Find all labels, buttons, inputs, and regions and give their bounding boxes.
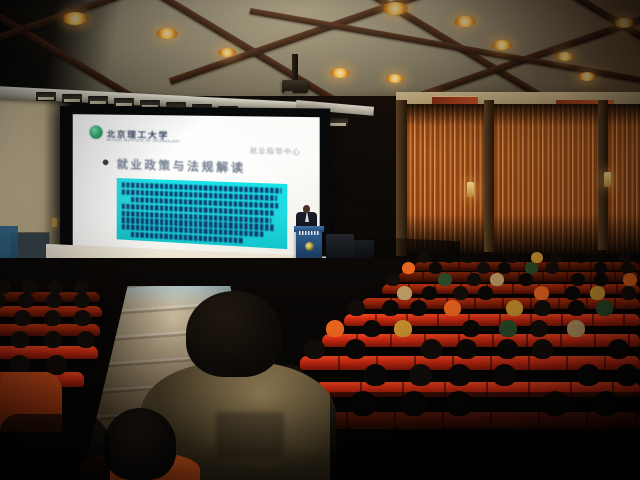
audience-member: [44, 310, 61, 326]
audience-member: [394, 320, 412, 337]
audience-member: [596, 300, 613, 316]
stage-light-fixture: [328, 118, 348, 127]
audience-member: [326, 320, 344, 337]
podium-nameplate: [299, 231, 319, 235]
audience-member: [608, 339, 629, 359]
audience-member: [348, 300, 365, 316]
audience-member: [44, 331, 62, 348]
audience-member: [525, 262, 538, 274]
audience-member: [621, 262, 634, 274]
ceiling-downlight: [578, 72, 596, 81]
seat-divider: [542, 272, 544, 282]
audience-member: [467, 273, 481, 286]
audience-member: [567, 320, 585, 337]
seat-divider: [612, 262, 614, 271]
audience-member: [478, 286, 493, 300]
wall-sconce-icon: [52, 218, 57, 227]
seat-divider: [458, 262, 460, 271]
auditorium-photo: 北京理工大学 BEIJING INSTITUTE OF TECHNOLOGY 就…: [0, 0, 640, 480]
ceiling-downlight: [382, 2, 408, 15]
ceiling-downlight: [386, 74, 404, 83]
audience-member: [616, 364, 639, 386]
seat-divider: [616, 284, 618, 294]
audience-member: [571, 273, 585, 286]
audience-member: [421, 339, 442, 359]
seat-divider: [586, 298, 588, 309]
audience-member: [429, 262, 442, 274]
seat-divider: [526, 334, 528, 347]
wall-sconce-icon: [604, 172, 611, 187]
audience-member: [74, 293, 90, 308]
audience-member: [48, 280, 63, 294]
university-seal-icon: [90, 125, 103, 138]
audience-member: [444, 300, 461, 316]
av-equipment: [354, 240, 374, 260]
audience-member: [418, 252, 430, 263]
audience-member: [499, 320, 517, 337]
wall-pillar: [484, 100, 494, 252]
stage-light-fixture: [36, 92, 56, 101]
audience-member: [594, 262, 607, 274]
audience-member: [590, 286, 605, 300]
audience-member: [621, 286, 636, 300]
audience-member: [397, 286, 412, 300]
ceiling-downlight: [614, 18, 634, 28]
audience-member: [410, 300, 427, 316]
ceiling-downlight: [62, 12, 88, 25]
seat-divider: [568, 262, 570, 271]
seat-divider: [561, 314, 563, 326]
stage-light-fixture: [62, 94, 82, 103]
audience-member: [568, 300, 585, 316]
slide-university-name-en: BEIJING INSTITUTE OF TECHNOLOGY: [107, 138, 181, 144]
diamond-bullet-icon: [103, 159, 109, 165]
audience-member: [386, 273, 400, 286]
ceiling-downlight: [330, 68, 350, 78]
seat-divider: [490, 356, 492, 370]
seat-divider: [422, 272, 424, 282]
audience-member: [11, 331, 29, 348]
wall-pillar: [396, 100, 407, 256]
seat-divider: [566, 272, 568, 282]
audience-member: [364, 364, 387, 386]
audience-member: [575, 252, 587, 263]
ceiling-downlight: [156, 28, 178, 39]
audience-member: [534, 300, 551, 316]
seat-divider: [528, 356, 530, 370]
ceiling-downlight: [454, 16, 476, 27]
seat-divider: [590, 262, 592, 271]
seat-divider: [623, 314, 625, 326]
audience-member: [402, 262, 415, 274]
seat-divider: [437, 314, 439, 326]
seat-divider: [614, 272, 616, 282]
audience-member: [14, 310, 31, 326]
audience-member: [46, 293, 62, 308]
audience-member: [497, 339, 518, 359]
seat-divider: [558, 298, 560, 309]
wall-sconce-icon: [467, 182, 474, 197]
seat-divider: [474, 298, 476, 309]
wall-curtain: [492, 104, 602, 254]
seat-divider: [502, 298, 504, 309]
audience-member: [462, 252, 474, 263]
ceiling-downlight: [218, 48, 236, 57]
ceiling-downlight: [492, 40, 512, 50]
foreground-shadow-left: [0, 414, 110, 480]
projector-lens: [284, 91, 293, 95]
audience-member: [453, 286, 468, 300]
audience-member: [534, 286, 549, 300]
audience-member: [304, 339, 325, 359]
audience-member: [448, 364, 471, 386]
slide-heading: 就业政策与法规解读: [117, 156, 246, 177]
slide-text-box: [117, 178, 288, 249]
audience-member: [594, 273, 608, 286]
audience-member: [74, 310, 91, 326]
audience-member: [77, 331, 95, 348]
seat-divider: [492, 334, 494, 347]
seat-divider: [338, 356, 340, 370]
seat-divider: [592, 314, 594, 326]
audience-member: [498, 262, 511, 274]
seat-divider: [512, 284, 514, 294]
audience-member: [345, 339, 366, 359]
ceiling-downlight: [556, 52, 574, 61]
foreground-figure2-head: [104, 408, 176, 480]
audience-member: [382, 300, 399, 316]
audience-member: [493, 364, 516, 386]
audience-member: [18, 293, 34, 308]
audience-member: [577, 364, 600, 386]
seat-divider: [566, 356, 568, 370]
seat-divider: [594, 334, 596, 347]
audience-member: [409, 364, 432, 386]
audience-member: [532, 339, 553, 359]
audience-member: [477, 262, 490, 274]
audience-member: [74, 280, 89, 294]
university-crest-icon: [305, 242, 314, 251]
projected-slide: 北京理工大学 BEIJING INSTITUTE OF TECHNOLOGY 就…: [73, 114, 320, 262]
seat-divider: [390, 334, 392, 347]
audience-member: [490, 273, 504, 286]
wall-curtain: [606, 104, 640, 254]
seat-divider: [560, 334, 562, 347]
audience-member: [462, 320, 480, 337]
audience-member: [546, 262, 559, 274]
seat-divider: [634, 262, 636, 271]
projector-mount: [292, 54, 298, 82]
audience-member: [0, 280, 11, 294]
audience-member: [623, 273, 637, 286]
seat-divider: [590, 272, 592, 282]
audience-member: [530, 320, 548, 337]
foreground-figure-head: [186, 291, 282, 377]
audience-member: [519, 273, 533, 286]
foreground-shadow-right: [330, 392, 640, 480]
audience-member: [565, 286, 580, 300]
seat-divider: [604, 356, 606, 370]
audience-member: [506, 300, 523, 316]
wall-curtain: [404, 104, 484, 254]
slide-corner-label: 就业指导中心: [250, 145, 301, 156]
presenter-head: [303, 205, 310, 213]
av-equipment: [326, 234, 354, 260]
seat-divider: [530, 298, 532, 309]
audience-member: [438, 273, 452, 286]
audience-member: [506, 252, 518, 263]
audience-member: [443, 252, 455, 263]
stage-light-fixture: [88, 96, 108, 105]
audience-member: [422, 286, 437, 300]
audience-member: [363, 320, 381, 337]
seat-divider: [614, 298, 616, 309]
wall-plaque: [432, 96, 478, 104]
audience-member: [22, 280, 37, 294]
audience-member: [456, 339, 477, 359]
